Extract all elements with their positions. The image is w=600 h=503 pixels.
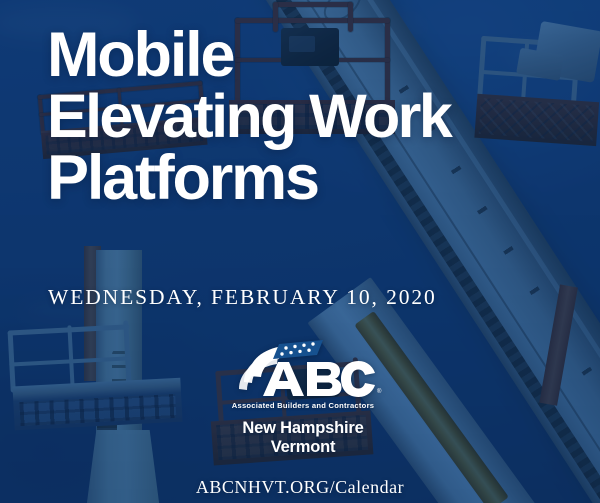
abc-chapter-name: New Hampshire Vermont [223,419,383,457]
title-line-2: Elevating Work [47,86,567,146]
title-line-3: Platforms [47,147,567,209]
website-url[interactable]: ABCNHVT.ORG/Calendar [0,477,600,498]
title-line-1: Mobile [47,24,567,86]
page-title: Mobile Elevating Work Platforms [47,24,567,209]
american-flag-swoosh-icon: ® [223,340,383,400]
poster-content: Mobile Elevating Work Platforms WEDNESDA… [0,0,600,503]
event-date: WEDNESDAY, FEBRUARY 10, 2020 [48,285,437,310]
event-poster: Mobile Elevating Work Platforms WEDNESDA… [0,0,600,503]
abc-logo-tagline: Associated Builders and Contractors [223,401,383,410]
registered-mark: ® [377,388,382,395]
abc-logo: ® Associated Builders and Contractors Ne… [223,340,383,460]
chapter-line-2: Vermont [223,438,383,457]
chapter-line-1: New Hampshire [223,419,383,438]
abc-logo-mark: ® [223,340,383,400]
